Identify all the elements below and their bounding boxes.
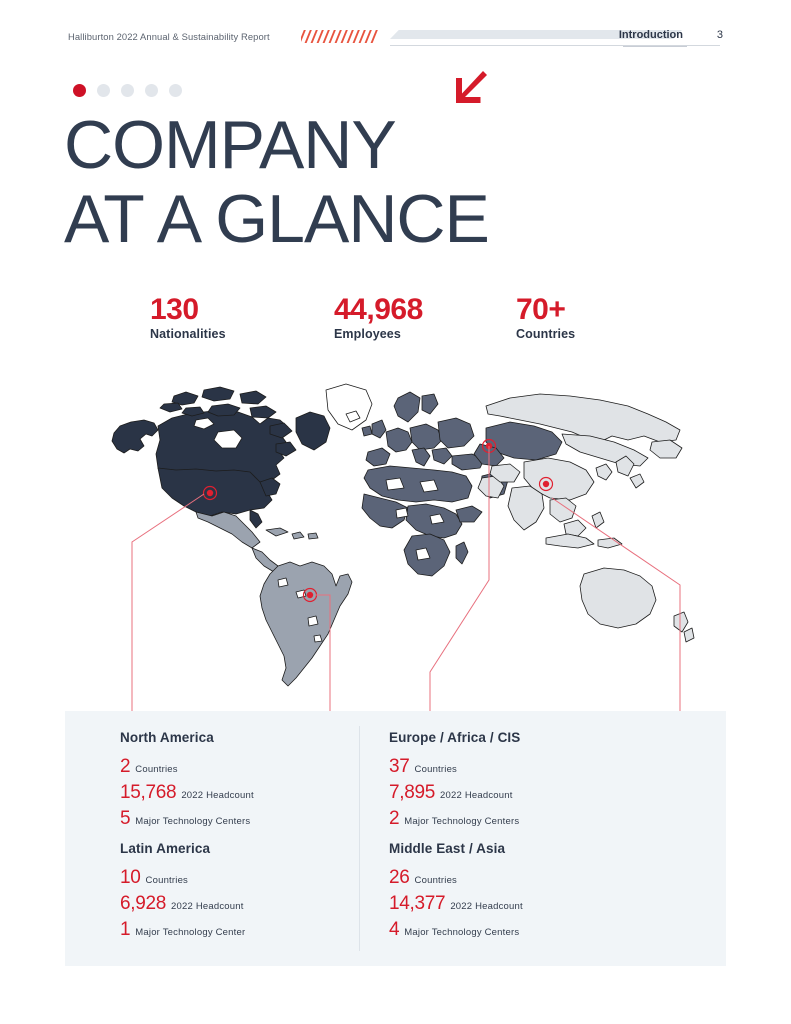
report-title: Halliburton 2022 Annual & Sustainability…: [68, 31, 270, 42]
world-map: [100, 370, 720, 710]
region-stat-label: Major Technology Center: [135, 927, 245, 938]
stat-value: 44,968: [334, 294, 423, 326]
page-title: COMPANY AT A GLANCE: [64, 108, 489, 256]
world-map-svg: [100, 370, 720, 710]
region-stat-row: 10 Countries: [120, 867, 380, 889]
region-stat-label: Major Technology Centers: [135, 816, 250, 827]
region-title: Middle East / Asia: [389, 841, 649, 856]
progress-dot-3: [121, 84, 134, 97]
progress-dots: [73, 84, 182, 97]
region-stat-value: 2: [389, 808, 399, 830]
header-section-underline: [623, 46, 687, 47]
page-header: Halliburton 2022 Annual & Sustainability…: [68, 28, 723, 52]
region-stat-value: 37: [389, 756, 410, 778]
region-stat-label: Major Technology Centers: [404, 816, 519, 827]
progress-dot-4: [145, 84, 158, 97]
page-title-line1: COMPANY: [64, 108, 489, 182]
progress-dot-1: [73, 84, 86, 97]
region-title: North America: [120, 730, 380, 745]
stat-countries: 70+ Countries: [516, 294, 575, 342]
region-stat-label: Major Technology Centers: [404, 927, 519, 938]
region-stat-row: 2 Countries: [120, 756, 380, 778]
map-region-north-america: [112, 387, 330, 528]
region-stat-row: 15,768 2022 Headcount: [120, 782, 380, 804]
map-region-latin-america: [196, 512, 352, 686]
stat-label: Countries: [516, 326, 575, 342]
region-stat-label: 2022 Headcount: [440, 790, 513, 801]
region-stat-row: 7,895 2022 Headcount: [389, 782, 649, 804]
region-title: Latin America: [120, 841, 380, 856]
diagonal-hatch-icon: [301, 30, 379, 43]
stats-row: 130 Nationalities 44,968 Employees 70+ C…: [150, 294, 710, 350]
region-stat-value: 10: [120, 867, 141, 889]
region-stat-label: Countries: [415, 764, 457, 775]
region-stat-label: Countries: [146, 875, 188, 886]
region-stat-value: 4: [389, 919, 399, 941]
region-stat-row: 14,377 2022 Headcount: [389, 893, 649, 915]
region-card-middle-east-asia: Middle East / Asia 26 Countries 14,377 2…: [389, 841, 649, 945]
stat-value: 130: [150, 294, 226, 326]
region-stat-row: 6,928 2022 Headcount: [120, 893, 380, 915]
region-stat-value: 6,928: [120, 893, 166, 915]
region-card-europe-africa-cis: Europe / Africa / CIS 37 Countries 7,895…: [389, 730, 649, 834]
region-stat-value: 7,895: [389, 782, 435, 804]
stat-label: Nationalities: [150, 326, 226, 342]
region-stat-row: 1 Major Technology Center: [120, 919, 380, 941]
region-stat-row: 2 Major Technology Centers: [389, 808, 649, 830]
stat-value: 70+: [516, 294, 575, 326]
region-stat-label: Countries: [135, 764, 177, 775]
page-title-line2: AT A GLANCE: [64, 182, 489, 256]
stat-label: Employees: [334, 326, 423, 342]
region-stat-label: 2022 Headcount: [181, 790, 254, 801]
region-card-latin-america: Latin America 10 Countries 6,928 2022 He…: [120, 841, 380, 945]
region-stat-label: 2022 Headcount: [171, 901, 244, 912]
stat-nationalities: 130 Nationalities: [150, 294, 226, 342]
page-number: 3: [717, 29, 723, 41]
region-stat-row: 5 Major Technology Centers: [120, 808, 380, 830]
region-stat-label: 2022 Headcount: [450, 901, 523, 912]
region-stat-row: 37 Countries: [389, 756, 649, 778]
region-stat-value: 14,377: [389, 893, 445, 915]
header-section-label: Introduction: [619, 29, 683, 41]
region-stat-row: 26 Countries: [389, 867, 649, 889]
region-card-north-america: North America 2 Countries 15,768 2022 He…: [120, 730, 380, 834]
arrow-down-left-icon: [452, 68, 490, 106]
region-stat-label: Countries: [415, 875, 457, 886]
region-stat-row: 4 Major Technology Centers: [389, 919, 649, 941]
region-stat-value: 26: [389, 867, 410, 889]
region-stat-value: 2: [120, 756, 130, 778]
progress-dot-5: [169, 84, 182, 97]
stat-employees: 44,968 Employees: [334, 294, 423, 342]
progress-dot-2: [97, 84, 110, 97]
region-stat-value: 5: [120, 808, 130, 830]
region-title: Europe / Africa / CIS: [389, 730, 649, 745]
region-stat-value: 1: [120, 919, 130, 941]
region-stat-value: 15,768: [120, 782, 176, 804]
